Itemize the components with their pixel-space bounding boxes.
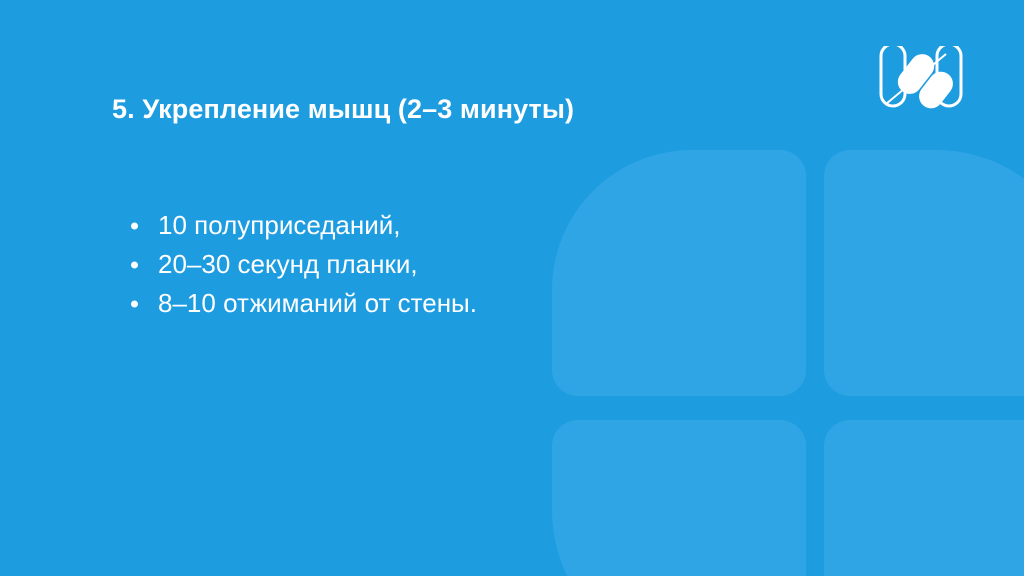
bullet-list: 10 полуприседаний, 20–30 секунд планки, … <box>128 206 477 323</box>
list-item-label: 8–10 отжиманий от стены. <box>158 288 477 318</box>
wa-monogram-logo-icon <box>874 46 968 114</box>
list-item: 10 полуприседаний, <box>128 206 477 245</box>
bullet-dot-icon <box>131 261 138 268</box>
list-item-label: 20–30 секунд планки, <box>158 249 418 279</box>
page-title: 5. Укрепление мышц (2–3 минуты) <box>112 94 574 125</box>
list-item-label: 10 полуприседаний, <box>158 210 401 240</box>
bullet-dot-icon <box>131 222 138 229</box>
bullet-dot-icon <box>131 300 138 307</box>
petal-top-left-shape <box>552 150 806 396</box>
petal-bottom-right-shape <box>824 420 1024 576</box>
petal-bottom-left-shape <box>552 420 806 576</box>
presentation-slide: 5. Укрепление мышц (2–3 минуты) 10 полуп… <box>0 0 1024 576</box>
list-item: 20–30 секунд планки, <box>128 245 477 284</box>
list-item: 8–10 отжиманий от стены. <box>128 284 477 323</box>
petal-top-right-shape <box>824 150 1024 396</box>
